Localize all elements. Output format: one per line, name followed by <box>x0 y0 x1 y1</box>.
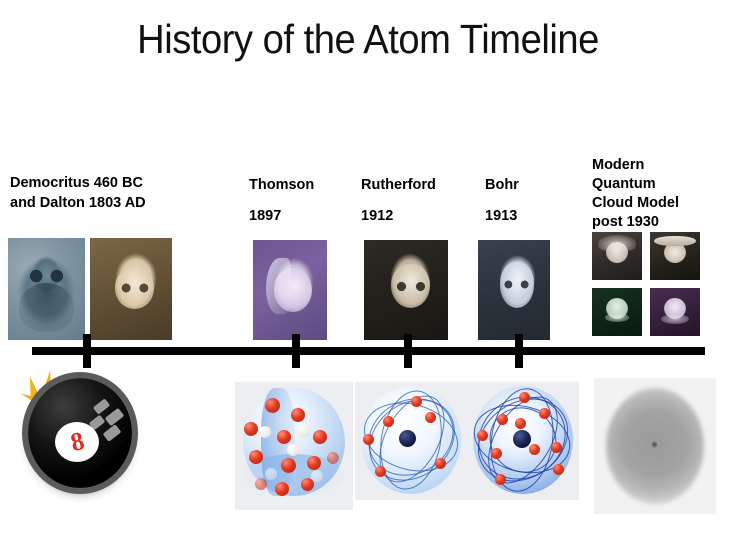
electron-dot <box>307 456 321 470</box>
electron-dot <box>275 482 289 496</box>
portrait-rutherford <box>364 240 448 340</box>
timeline-axis <box>32 347 705 355</box>
electron-dot <box>477 430 488 441</box>
electron-dot <box>497 414 508 425</box>
model-plum-pudding <box>235 382 353 510</box>
electron-dot <box>313 430 327 444</box>
portrait-group-modern <box>592 232 700 338</box>
proton-dot <box>297 424 310 437</box>
electron-dot <box>515 418 526 429</box>
entry-label-text: Democritus 460 BC and Dalton 1803 AD <box>10 175 146 211</box>
electron-dot <box>244 422 258 436</box>
entry-year: 1912 <box>361 206 471 226</box>
electron-dot <box>249 450 263 464</box>
nucleus <box>513 430 531 448</box>
model-rutherford-nuclear <box>355 382 467 500</box>
proton-dot <box>287 444 299 456</box>
entry-label-text: Modern Quantum Cloud Model post 1930 <box>592 157 679 230</box>
portrait-einstein <box>592 232 642 280</box>
electron-dot <box>539 408 550 419</box>
electron-dot <box>327 452 339 464</box>
proton-dot <box>265 468 277 480</box>
highlight-shine <box>103 424 122 442</box>
portrait-feynman <box>650 288 700 336</box>
electron-dot <box>277 430 291 444</box>
electron-dot <box>551 442 562 453</box>
electron-dot <box>425 412 436 423</box>
electron-dot <box>491 448 502 459</box>
entry-label-rutherford: Rutherford 1912 <box>361 155 471 246</box>
eight-ball-number: 8 <box>68 428 87 456</box>
timeline-tick-bohr <box>515 334 523 368</box>
eight-ball-number-circle: 8 <box>55 422 99 462</box>
portrait-bohr <box>478 240 550 340</box>
electron-dot <box>529 444 540 455</box>
entry-label-text: Thomson <box>249 177 314 193</box>
model-electron-cloud <box>594 378 716 514</box>
highlight-shine <box>93 398 110 414</box>
portrait-man-in-hat <box>650 232 700 280</box>
electron-dot <box>281 458 296 473</box>
electron-dot <box>553 464 564 475</box>
entry-label-democritus-dalton: Democritus 460 BC and Dalton 1803 AD <box>10 153 215 213</box>
proton-dot <box>259 426 271 438</box>
electron-dot <box>519 392 530 403</box>
electron-dot <box>291 408 305 422</box>
model-eight-ball: 8 <box>18 366 138 496</box>
portrait-planck <box>592 288 642 336</box>
timeline-tick-rutherford <box>404 334 412 368</box>
electron-dot <box>411 396 422 407</box>
entry-year: 1897 <box>249 206 349 226</box>
entry-year: 1913 <box>485 206 565 226</box>
eight-ball-body: 8 <box>28 378 132 488</box>
portrait-democritus <box>8 238 85 340</box>
electron-dot <box>375 466 386 477</box>
electron-dot <box>363 434 374 445</box>
portrait-dalton <box>90 238 172 340</box>
nucleus <box>399 430 416 447</box>
page-title: History of the Atom Timeline <box>26 16 710 63</box>
timeline-tick-thomson <box>292 334 300 368</box>
electron-dot <box>495 474 506 485</box>
highlight-shine <box>105 408 125 426</box>
timeline-tick-democritus-dalton <box>83 334 91 368</box>
portrait-thomson <box>253 240 327 340</box>
electron-dot <box>265 398 280 413</box>
electron-dot <box>255 478 267 490</box>
model-bohr-shells <box>467 382 579 500</box>
entry-label-text: Bohr <box>485 177 519 193</box>
entry-label-modern: Modern Quantum Cloud Model post 1930 <box>592 137 704 232</box>
timeline-canvas: History of the Atom Timeline Democritus … <box>0 0 736 552</box>
electron-dot <box>435 458 446 469</box>
entry-label-bohr: Bohr 1913 <box>485 155 565 246</box>
proton-dot <box>311 470 323 482</box>
entry-label-thomson: Thomson 1897 <box>249 155 349 246</box>
nucleus <box>652 442 657 447</box>
entry-label-text: Rutherford <box>361 177 436 193</box>
electron-dot <box>383 416 394 427</box>
